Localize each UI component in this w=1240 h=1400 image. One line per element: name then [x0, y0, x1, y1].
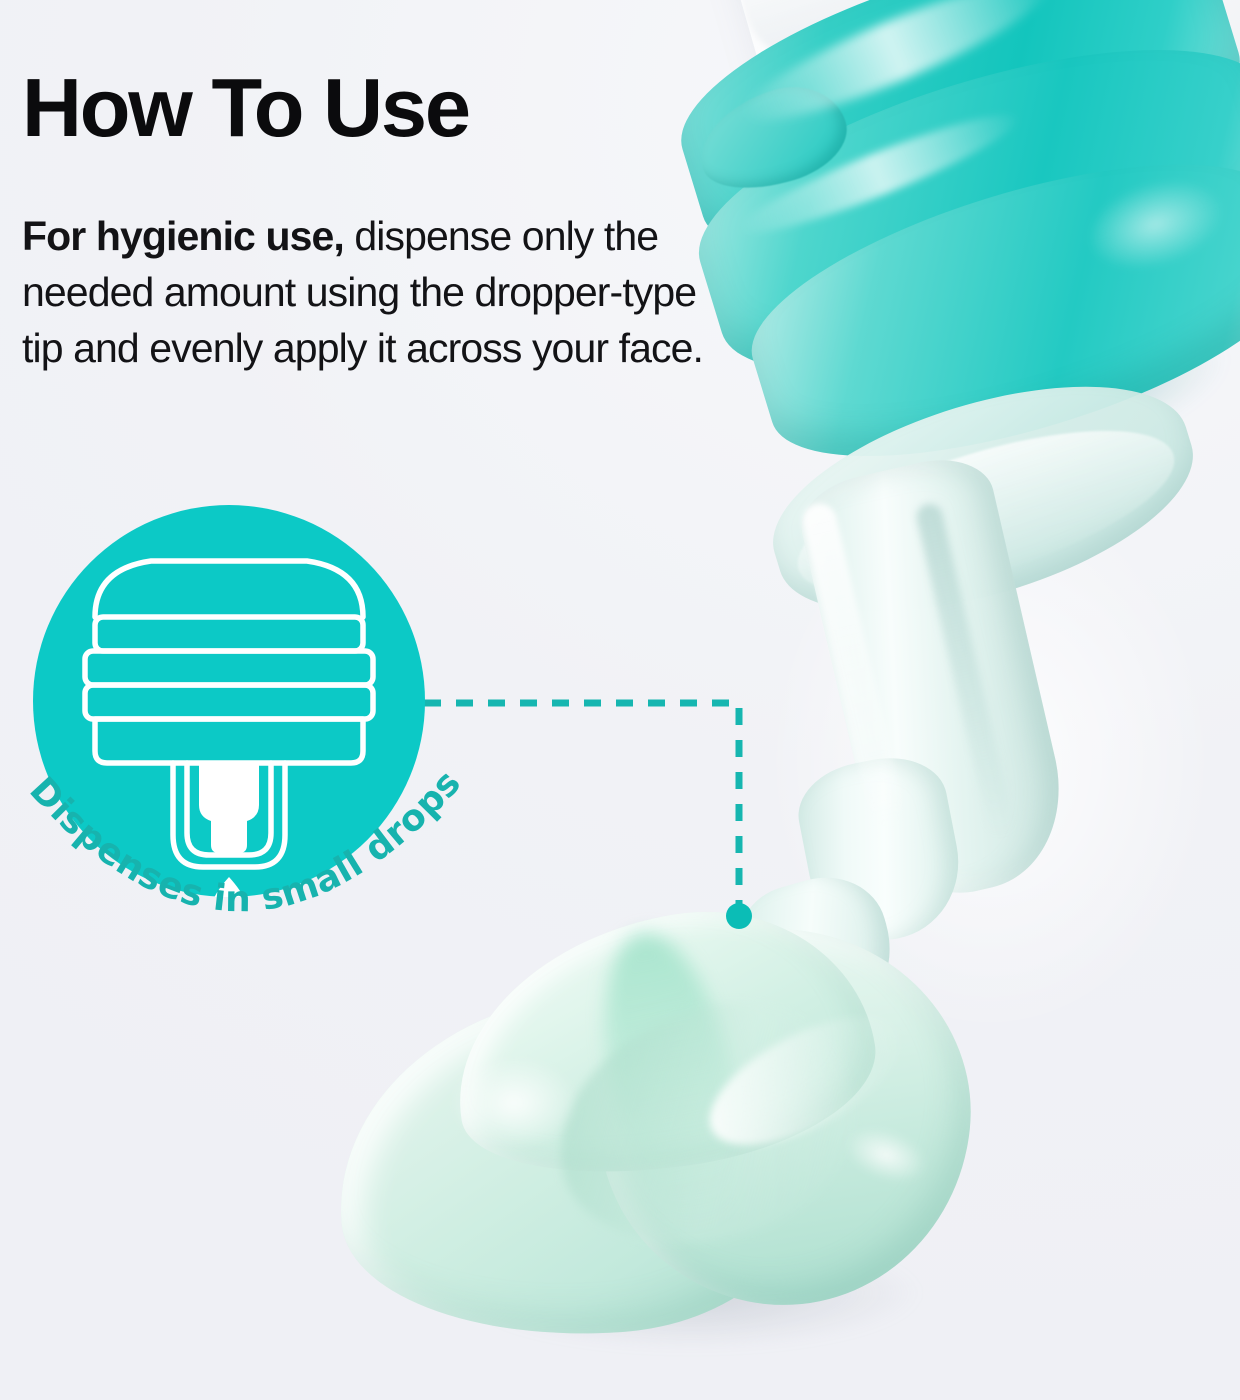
icon-rib-2 — [85, 651, 373, 685]
badge-caption: Dispenses in small drops! — [25, 741, 477, 981]
badge-caption-text: Dispenses in small drops! — [17, 709, 470, 920]
icon-rib-1 — [95, 617, 363, 651]
connector-endpoint-dot — [726, 903, 752, 929]
how-to-use-product-graphic: How To Use For hygienic use, dispense on… — [0, 0, 1240, 1400]
icon-rib-3 — [85, 685, 373, 719]
icon-cap-dome — [95, 561, 363, 617]
badge-caption-textpath: Dispenses in small drops! — [17, 709, 470, 920]
dispenses-in-small-drops-badge: Dispenses in small drops! — [33, 505, 425, 897]
